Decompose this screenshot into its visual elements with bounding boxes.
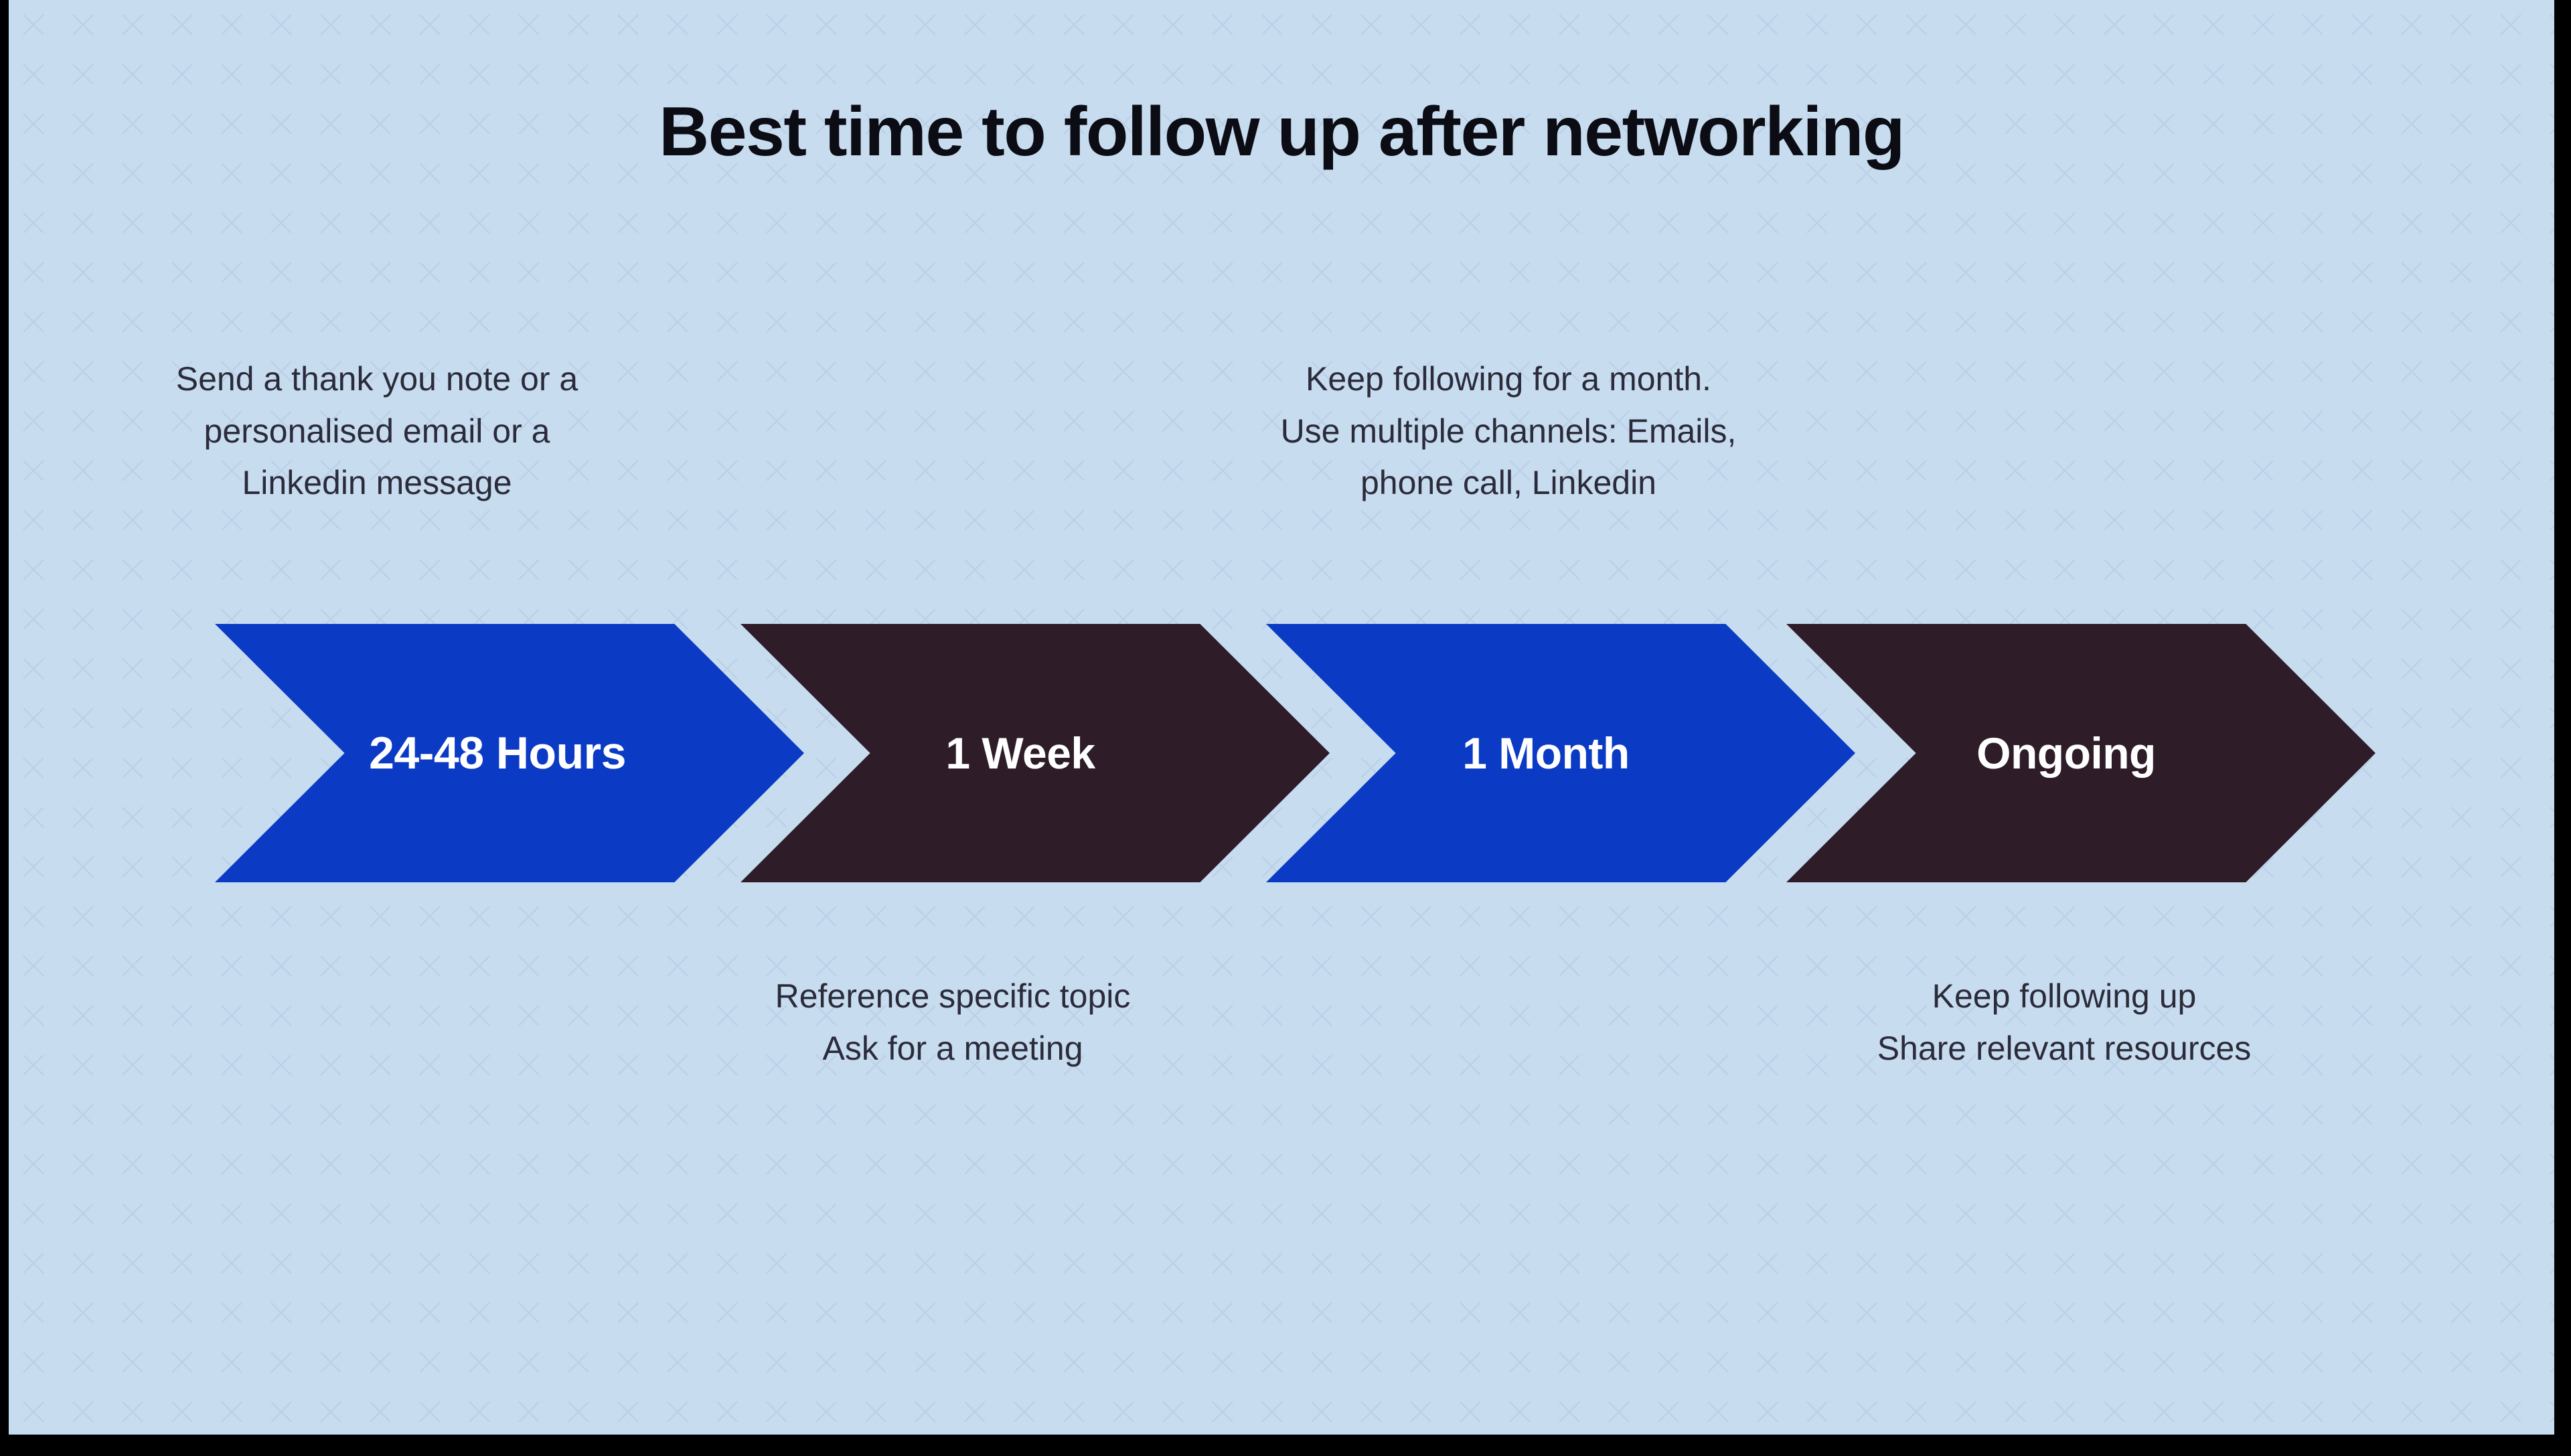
page-title: Best time to follow up after networking [9, 94, 2554, 170]
caption-line: Share relevant resources [1796, 1023, 2332, 1075]
caption-line: Use multiple channels: Emails, [1207, 406, 1810, 458]
caption-line: Reference specific topic [685, 971, 1221, 1023]
timeline-step-2[interactable]: 1 Week [741, 624, 1330, 882]
caption-line: phone call, Linkedin [1207, 457, 1810, 509]
caption-line: Keep following for a month. [1207, 353, 1810, 406]
slide-canvas: Best time to follow up after networking … [9, 0, 2554, 1435]
timeline-step-3-label: 1 Month [1251, 728, 1841, 779]
timeline-step-1-label: 24-48 Hours [203, 727, 792, 779]
caption-line: personalised email or a [109, 406, 645, 458]
caption-line: Linkedin message [109, 457, 645, 509]
timeline-chevron-row: 24-48 Hours 1 Week 1 Month Ongoing [9, 624, 2554, 882]
timeline-step-1[interactable]: 24-48 Hours [215, 624, 804, 882]
caption-line: Ask for a meeting [685, 1023, 1221, 1075]
caption-line: Send a thank you note or a [109, 353, 645, 406]
step-caption-2: Reference specific topic Ask for a meeti… [685, 971, 1221, 1074]
letterbox-frame: Best time to follow up after networking … [0, 0, 2571, 1456]
step-caption-1: Send a thank you note or a personalised … [109, 353, 645, 509]
timeline-step-4-label: Ongoing [1772, 728, 2361, 779]
step-caption-4: Keep following up Share relevant resourc… [1796, 971, 2332, 1074]
timeline-step-4[interactable]: Ongoing [1786, 624, 2375, 882]
timeline-step-3[interactable]: 1 Month [1266, 624, 1855, 882]
caption-line: Keep following up [1796, 971, 2332, 1023]
timeline-step-2-label: 1 Week [726, 728, 1315, 779]
step-caption-3: Keep following for a month. Use multiple… [1207, 353, 1810, 509]
